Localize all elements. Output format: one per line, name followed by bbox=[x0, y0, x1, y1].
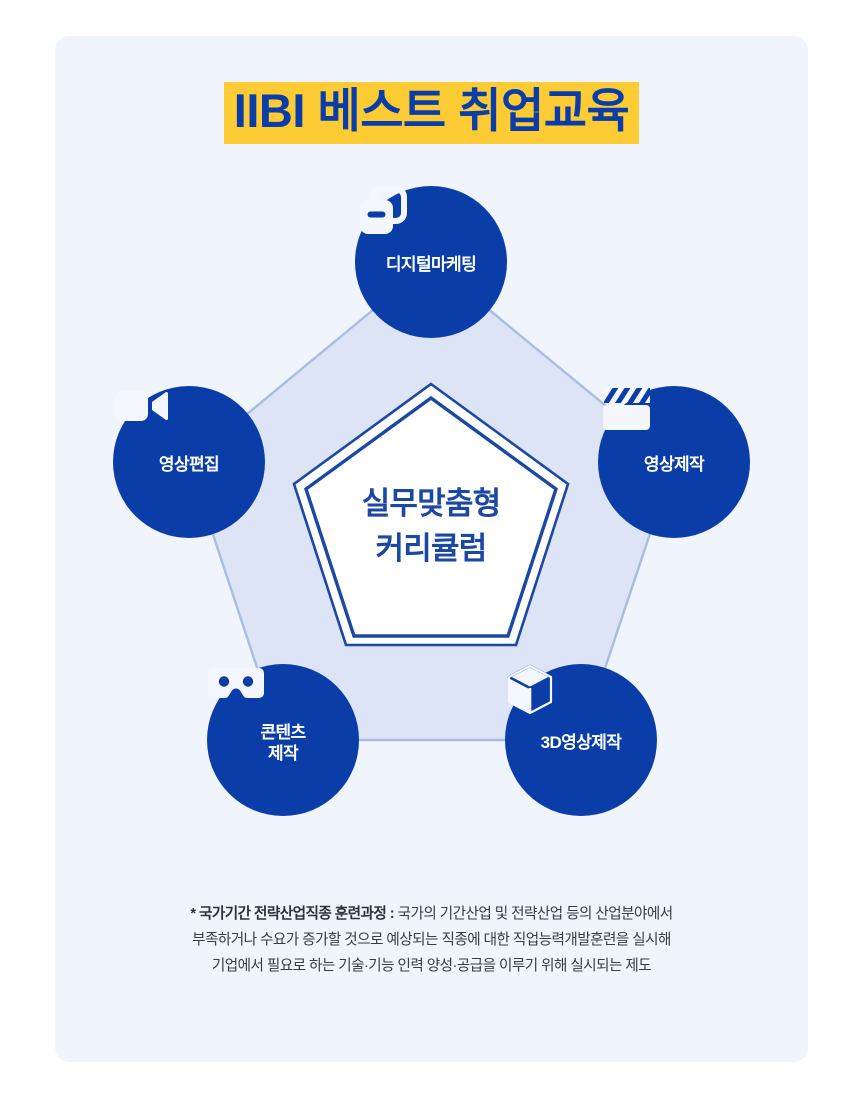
infographic-card: IIBI 베스트 취업교육 실무맞춤형 커리큘럼 bbox=[55, 36, 808, 1062]
node-label: 콘텐츠 제작 bbox=[260, 723, 305, 763]
node-3d-video-production[interactable]: 3D영상제작 bbox=[505, 664, 657, 816]
footnote-label: * 국가기간 전략산업직종 훈련과정 : bbox=[190, 906, 394, 922]
node-label: 영상제작 bbox=[644, 455, 704, 475]
footnote: * 국가기간 전략산업직종 훈련과정 : 국가의 기간산업 및 전략산업 등의 … bbox=[93, 902, 770, 980]
node-label: 영상편집 bbox=[159, 455, 219, 475]
page-title-wrap: IIBI 베스트 취업교육 bbox=[55, 82, 808, 144]
center-label: 실무맞춤형 커리큘럼 bbox=[291, 482, 571, 572]
node-content-production[interactable]: 콘텐츠 제작 bbox=[207, 664, 359, 816]
node-digital-marketing[interactable]: 디지털마케팅 bbox=[355, 186, 507, 338]
footnote-line-1: * 국가기간 전략산업직종 훈련과정 : 국가의 기간산업 및 전략산업 등의 … bbox=[93, 902, 770, 928]
center-label-line1: 실무맞춤형 bbox=[291, 482, 571, 527]
node-video-editing[interactable]: 영상편집 bbox=[113, 386, 265, 538]
node-label: 디지털마케팅 bbox=[386, 255, 476, 275]
page-title: IIBI 베스트 취업교육 bbox=[224, 82, 639, 144]
infographic-page: IIBI 베스트 취업교육 실무맞춤형 커리큘럼 bbox=[0, 0, 860, 1100]
footnote-line-1-rest: 국가의 기간산업 및 전략산업 등의 산업분야에서 bbox=[394, 906, 673, 922]
footnote-line-2: 부족하거나 수요가 증가할 것으로 예상되는 직종에 대한 직업능력개발훈련을 … bbox=[93, 928, 770, 954]
node-label: 3D영상제작 bbox=[541, 733, 622, 753]
center-label-line2: 커리큘럼 bbox=[291, 527, 571, 572]
footnote-line-3: 기업에서 필요로 하는 기술·기능 인력 양성·공급을 이루기 위해 실시되는 … bbox=[93, 954, 770, 980]
curriculum-diagram: 실무맞춤형 커리큘럼 디지털마케팅 bbox=[55, 186, 808, 866]
node-video-production[interactable]: 영상제작 bbox=[598, 386, 750, 538]
